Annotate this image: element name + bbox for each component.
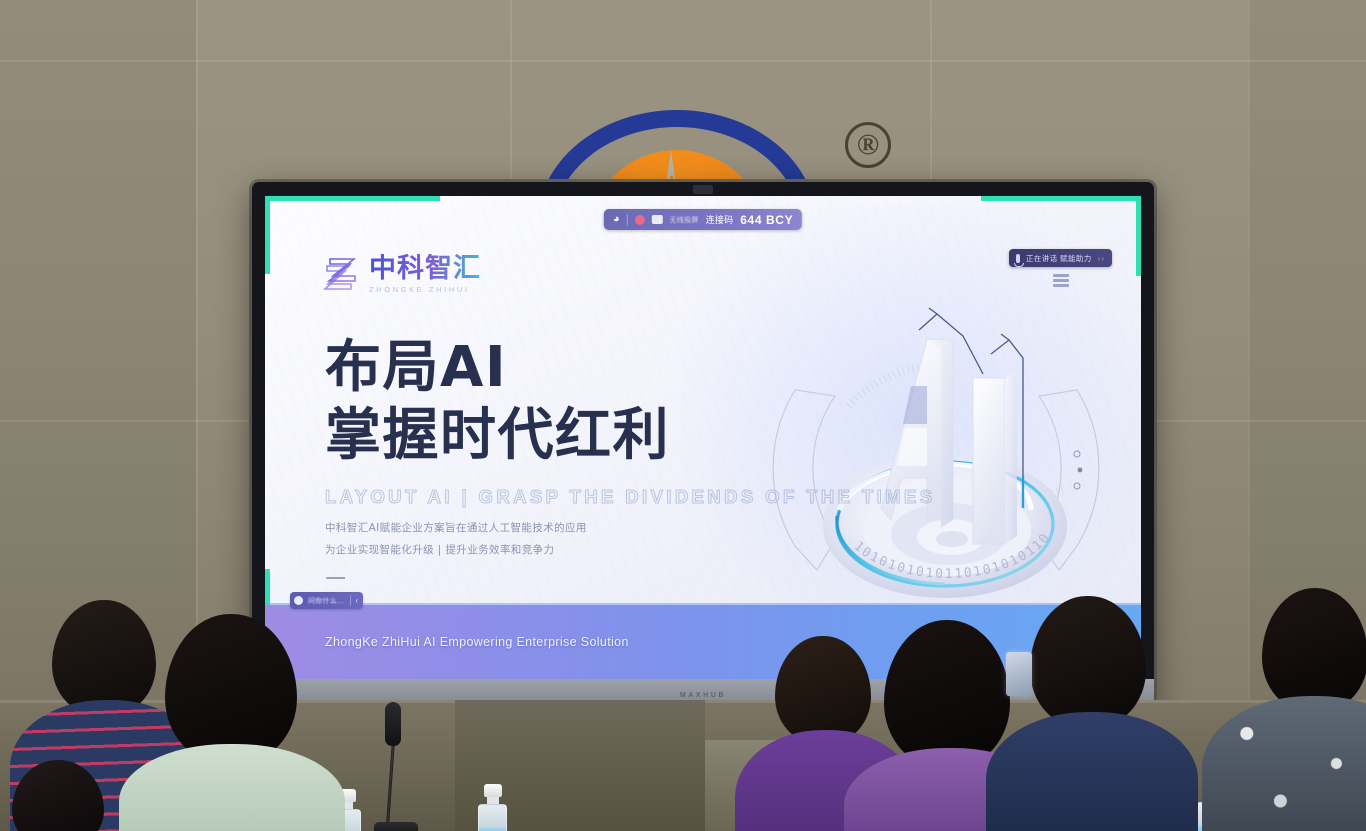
corner-accent-top-right xyxy=(1136,196,1141,276)
headline-line-1: 布局AI xyxy=(325,334,670,402)
ai-3d-emblem: 1010101010110101010110 xyxy=(777,278,1141,628)
body-line-1: 中科智汇AI赋能企业方案旨在通过人工智能技术的应用 xyxy=(325,518,587,540)
chevron-left-icon: ‹ xyxy=(356,596,359,605)
menu-bar xyxy=(1053,274,1069,277)
z-monogram-icon xyxy=(323,254,360,294)
speaking-trailing-icon: ›› xyxy=(1098,254,1105,263)
divider xyxy=(626,214,627,226)
accent-dash xyxy=(326,577,345,579)
wifi-icon: ◕ xyxy=(613,214,620,225)
person-head xyxy=(884,620,1010,768)
person-head xyxy=(165,614,297,764)
interactive-display[interactable]: ◕ 无线投屏 连接码 644 BCY 正在讲话 赋能助力 ›› xyxy=(252,182,1154,727)
brand-name-en: ZHONGKE ZHIHUI xyxy=(369,285,481,294)
person-head xyxy=(775,636,871,744)
menu-bar xyxy=(1053,284,1069,287)
microphone-icon xyxy=(1016,254,1020,263)
brand-names: 中科智汇 ZHONGKE ZHIHUI xyxy=(369,254,481,293)
person-shoulders xyxy=(986,712,1198,831)
cast-blurred-text: 无线投屏 xyxy=(669,215,698,225)
menu-bar xyxy=(1053,279,1069,282)
display-camera-icon xyxy=(693,185,713,194)
speaking-status-pill[interactable]: 正在讲话 赋能助力 ›› xyxy=(1009,249,1112,267)
screen-share-icon[interactable] xyxy=(651,215,662,224)
footer-hairline xyxy=(265,603,1141,605)
audience-member xyxy=(12,760,104,831)
wall-seam xyxy=(0,60,1366,62)
mic-muted-icon[interactable] xyxy=(634,215,644,225)
corner-accent-top-right xyxy=(981,196,1141,201)
body-line-2: 为企业实现智能化升级 | 提升业务效率和竞争力 xyxy=(325,540,587,562)
headline-line-2: 掌握时代红利 xyxy=(325,402,670,470)
slide-subtitle-en: LAYOUT AI | GRASP THE DIVIDENDS OF THE T… xyxy=(325,486,935,508)
footer-text: ZhongKe ZhiHui AI Empowering Enterprise … xyxy=(325,635,629,649)
audience-member xyxy=(1030,596,1146,728)
person-head xyxy=(1030,596,1146,728)
presentation-screen[interactable]: ◕ 无线投屏 连接码 644 BCY 正在讲话 赋能助力 ›› xyxy=(265,196,1141,679)
speaking-status-text: 正在讲话 赋能助力 xyxy=(1026,253,1092,264)
audience-member xyxy=(884,620,1010,768)
slide-brand-logo: 中科智汇 ZHONGKE ZHIHUI xyxy=(323,254,481,294)
registered-trademark-icon: ® xyxy=(845,122,891,168)
slide-headline: 布局AI 掌握时代红利 xyxy=(325,334,670,471)
audience-member xyxy=(52,600,156,716)
person-head xyxy=(12,760,104,831)
cast-status-bar[interactable]: ◕ 无线投屏 连接码 644 BCY xyxy=(604,209,802,230)
audience-member xyxy=(775,636,871,744)
bottle-cap xyxy=(484,784,502,797)
slide-body-copy: 中科智汇AI赋能企业方案旨在通过人工智能技术的应用 为企业实现智能化升级 | 提… xyxy=(325,518,587,561)
bottle-body xyxy=(478,804,507,831)
audience-member xyxy=(1262,588,1366,712)
mic-base xyxy=(374,822,418,831)
connect-code-value: 644 BCY xyxy=(740,213,793,227)
mic-head xyxy=(385,702,401,746)
hamburger-menu-icon[interactable] xyxy=(1053,274,1069,287)
brand-name-cn: 中科智汇 xyxy=(369,254,481,282)
water-bottle xyxy=(478,784,507,831)
corner-accent-top-left xyxy=(265,196,270,274)
divider xyxy=(350,595,351,606)
person-head xyxy=(52,600,156,716)
bottle-neck xyxy=(487,797,499,804)
connect-code-label: 连接码 xyxy=(706,213,734,226)
display-brand-label: MAXHUB xyxy=(680,692,726,699)
assistant-orb-icon xyxy=(294,596,303,605)
assistant-ask-text: 问你什么… xyxy=(308,596,345,606)
assistant-ask-pill[interactable]: 问你什么… ‹ xyxy=(290,592,363,609)
audience-member xyxy=(165,614,297,764)
corner-accent-top-left xyxy=(265,196,440,201)
person-head xyxy=(1262,588,1366,712)
mobile-phone xyxy=(1006,652,1032,696)
